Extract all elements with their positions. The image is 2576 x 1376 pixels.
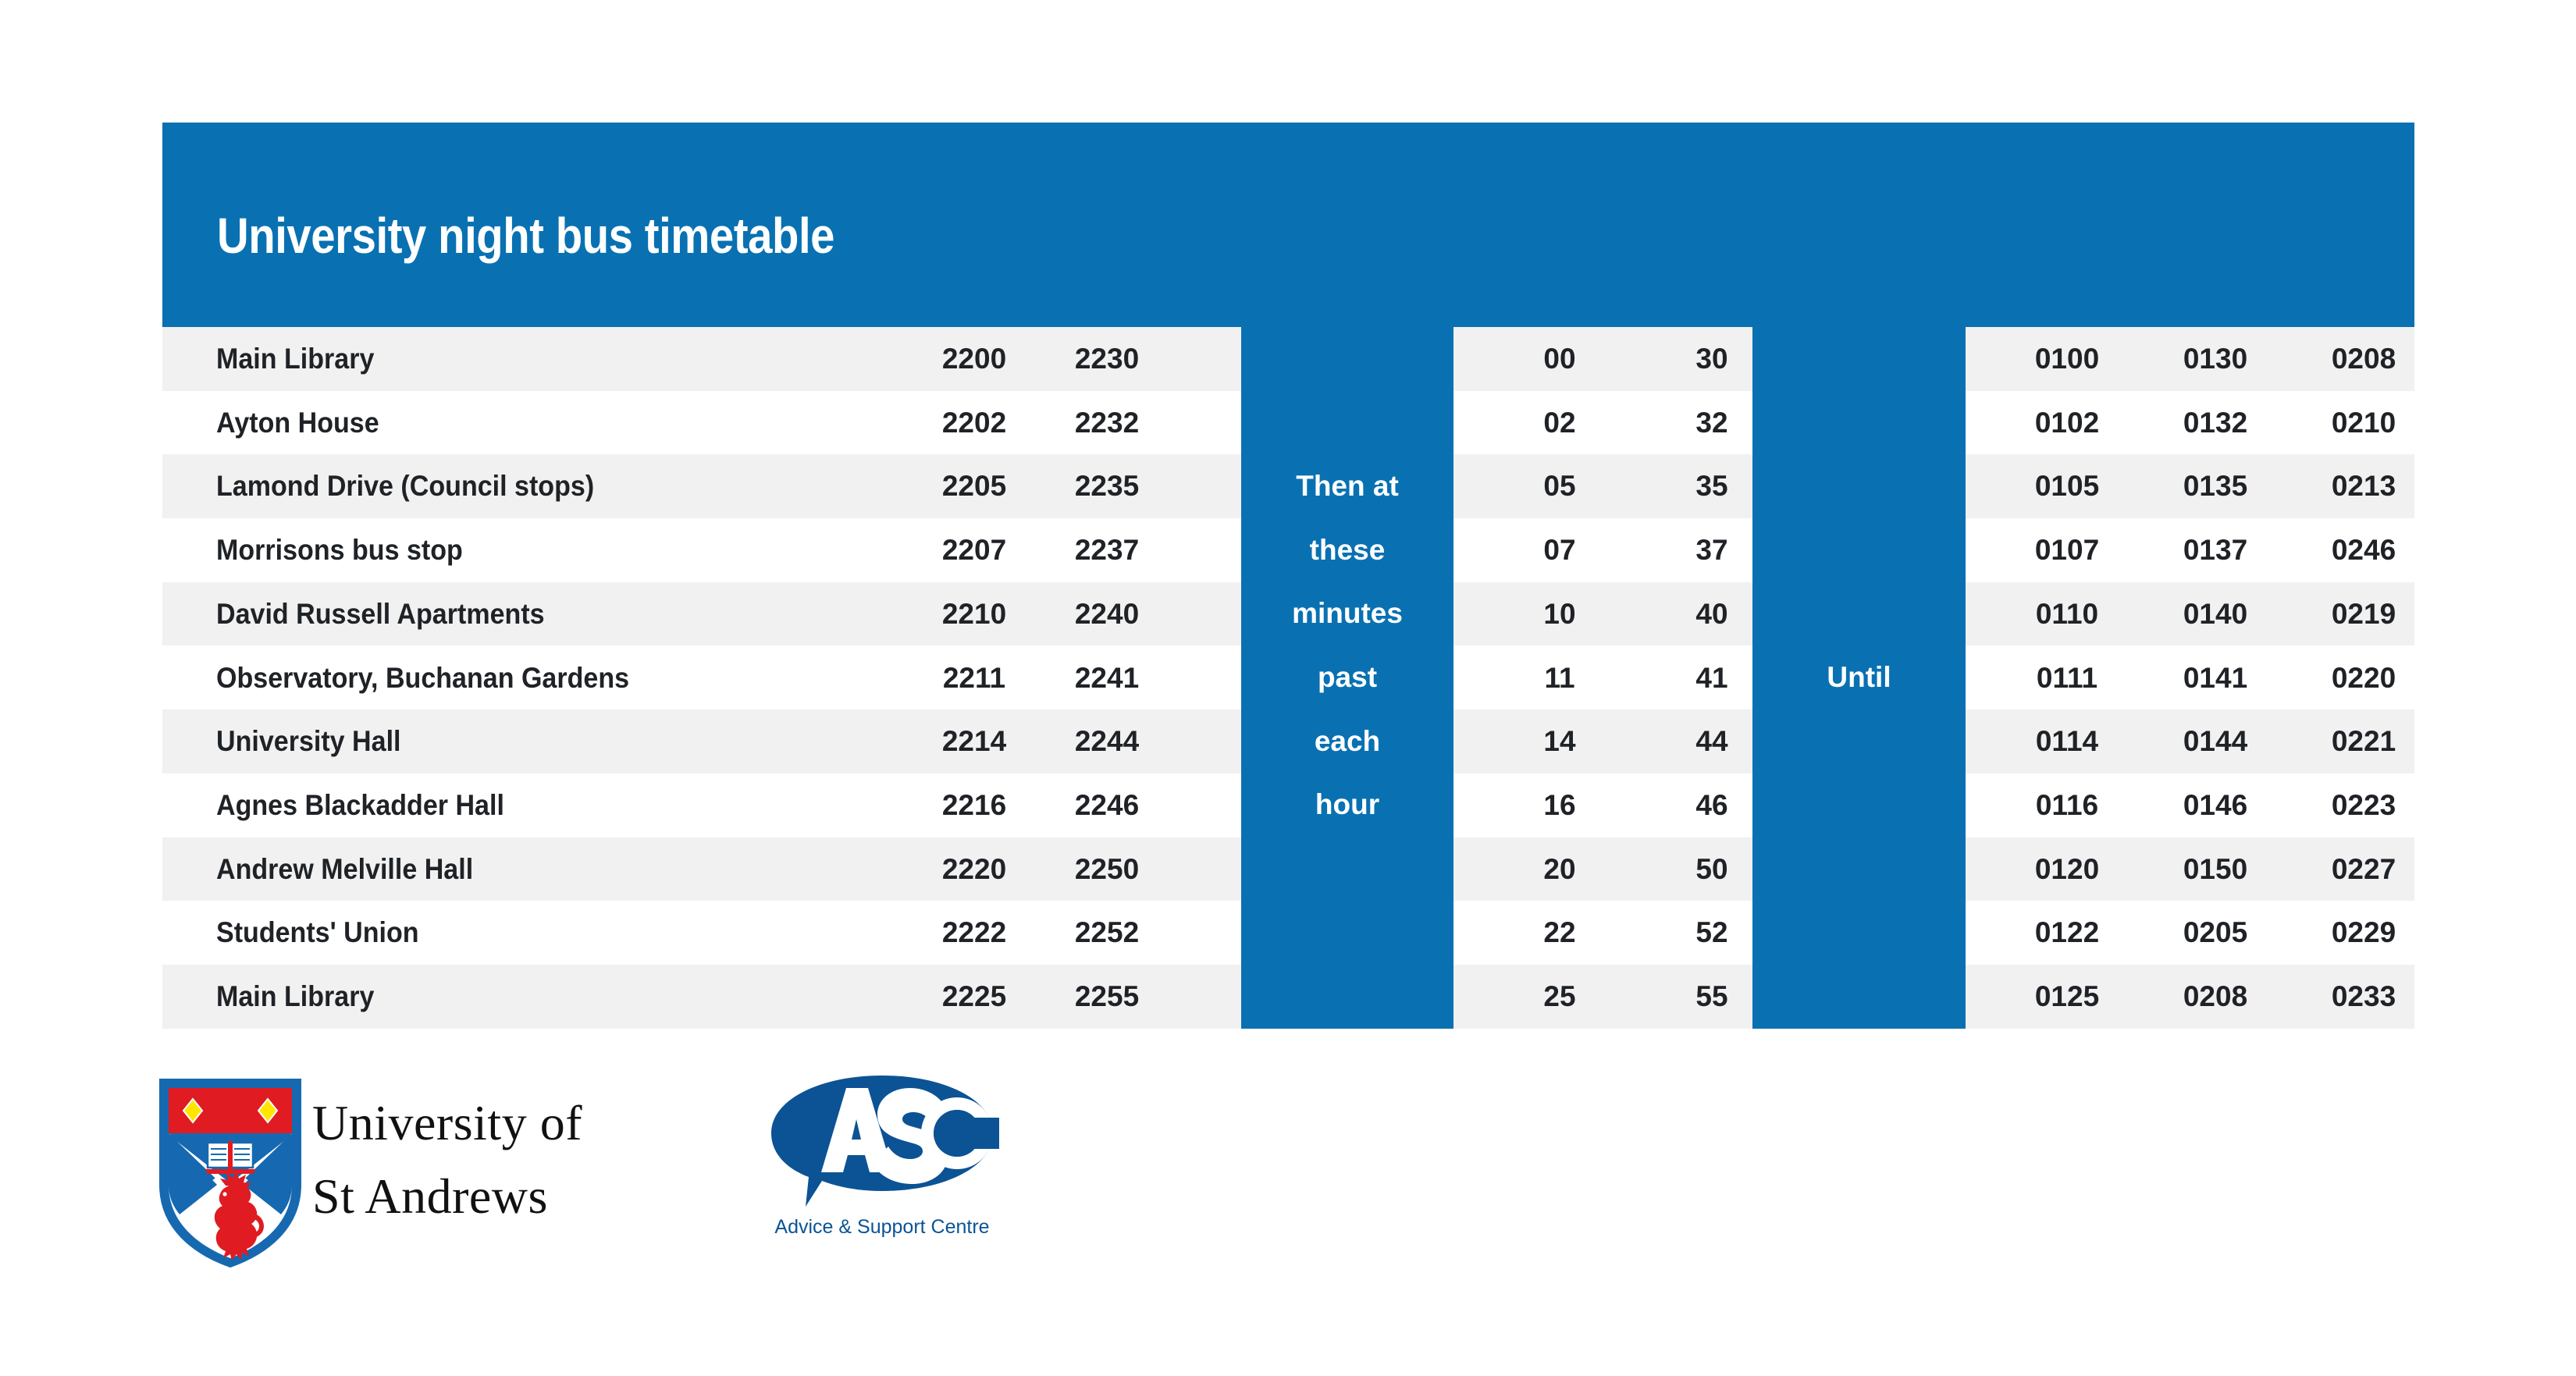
then-line-6: hour bbox=[1241, 773, 1453, 837]
late-time-cell: 0213 bbox=[2297, 454, 2430, 518]
late-time-cell: 0102 bbox=[2001, 391, 2133, 455]
timetable: Main Library220022300030010001300208Ayto… bbox=[162, 327, 2414, 1029]
departure-time-cell: 2222 bbox=[908, 901, 1041, 965]
late-time-cell: 0233 bbox=[2297, 965, 2430, 1029]
departure-time-cell: 2250 bbox=[1041, 837, 1173, 901]
until-panel: Until bbox=[1752, 327, 1966, 1029]
late-time-cell: 0132 bbox=[2149, 391, 2282, 455]
late-time-cell: 0135 bbox=[2149, 454, 2282, 518]
departure-time-cell: 2232 bbox=[1041, 391, 1173, 455]
minutes-past-cell: 55 bbox=[1665, 965, 1759, 1029]
late-time-cell: 0210 bbox=[2297, 391, 2430, 455]
departure-time-cell: 2211 bbox=[908, 646, 1041, 710]
minutes-past-cell: 16 bbox=[1513, 773, 1606, 837]
stop-name-cell: Lamond Drive (Council stops) bbox=[216, 454, 863, 518]
departure-time-cell: 2240 bbox=[1041, 582, 1173, 646]
minutes-past-cell: 41 bbox=[1665, 646, 1759, 710]
late-time-cell: 0130 bbox=[2149, 327, 2282, 391]
minutes-past-cell: 50 bbox=[1665, 837, 1759, 901]
late-time-cell: 0146 bbox=[2149, 773, 2282, 837]
late-time-cell: 0208 bbox=[2149, 965, 2282, 1029]
departure-time-cell: 2216 bbox=[908, 773, 1041, 837]
stop-name-cell: Students' Union bbox=[216, 901, 863, 965]
late-time-cell: 0116 bbox=[2001, 773, 2133, 837]
asc-caption: Advice & Support Centre bbox=[765, 1216, 999, 1239]
until-label: Until bbox=[1752, 645, 1966, 709]
minutes-past-cell: 11 bbox=[1513, 646, 1606, 710]
minutes-past-cell: 10 bbox=[1513, 582, 1606, 646]
late-time-cell: 0137 bbox=[2149, 518, 2282, 582]
minutes-past-cell: 00 bbox=[1513, 327, 1606, 391]
then-line-3: minutes bbox=[1241, 581, 1453, 645]
minutes-past-cell: 40 bbox=[1665, 582, 1759, 646]
minutes-past-cell: 37 bbox=[1665, 518, 1759, 582]
then-line-2: these bbox=[1241, 518, 1453, 582]
stop-name-cell: University Hall bbox=[216, 709, 863, 773]
departure-time-cell: 2235 bbox=[1041, 454, 1173, 518]
late-time-cell: 0227 bbox=[2297, 837, 2430, 901]
departure-time-cell: 2237 bbox=[1041, 518, 1173, 582]
late-time-cell: 0125 bbox=[2001, 965, 2133, 1029]
page-title: University night bus timetable bbox=[217, 207, 834, 265]
departure-time-cell: 2255 bbox=[1041, 965, 1173, 1029]
minutes-past-cell: 05 bbox=[1513, 454, 1606, 518]
late-time-cell: 0208 bbox=[2297, 327, 2430, 391]
then-at-minutes-panel: Then at these minutes past each hour bbox=[1241, 327, 1453, 1029]
late-time-cell: 0120 bbox=[2001, 837, 2133, 901]
late-time-cell: 0219 bbox=[2297, 582, 2430, 646]
departure-time-cell: 2225 bbox=[908, 965, 1041, 1029]
late-time-cell: 0141 bbox=[2149, 646, 2282, 710]
wordmark-line-2: St Andrews bbox=[312, 1160, 671, 1233]
then-line-5: each bbox=[1241, 709, 1453, 773]
st-andrews-wordmark: University of St Andrews bbox=[312, 1086, 671, 1258]
then-line-4: past bbox=[1241, 645, 1453, 709]
departure-time-cell: 2210 bbox=[908, 582, 1041, 646]
late-time-cell: 0246 bbox=[2297, 518, 2430, 582]
departure-time-cell: 2252 bbox=[1041, 901, 1173, 965]
minutes-past-cell: 02 bbox=[1513, 391, 1606, 455]
minutes-past-cell: 44 bbox=[1665, 709, 1759, 773]
departure-time-cell: 2200 bbox=[908, 327, 1041, 391]
then-at-minutes-lines: Then at these minutes past each hour bbox=[1241, 454, 1453, 837]
university-of-st-andrews-logo: University of St Andrews bbox=[156, 1076, 671, 1271]
stop-name-cell: Observatory, Buchanan Gardens bbox=[216, 646, 863, 710]
stop-name-cell: Agnes Blackadder Hall bbox=[216, 773, 863, 837]
late-time-cell: 0140 bbox=[2149, 582, 2282, 646]
late-time-cell: 0223 bbox=[2297, 773, 2430, 837]
departure-time-cell: 2244 bbox=[1041, 709, 1173, 773]
late-time-cell: 0144 bbox=[2149, 709, 2282, 773]
late-time-cell: 0220 bbox=[2297, 646, 2430, 710]
departure-time-cell: 2230 bbox=[1041, 327, 1173, 391]
minutes-past-cell: 35 bbox=[1665, 454, 1759, 518]
departure-time-cell: 2241 bbox=[1041, 646, 1173, 710]
late-time-cell: 0205 bbox=[2149, 901, 2282, 965]
late-time-cell: 0221 bbox=[2297, 709, 2430, 773]
late-time-cell: 0100 bbox=[2001, 327, 2133, 391]
departure-time-cell: 2246 bbox=[1041, 773, 1173, 837]
minutes-past-cell: 32 bbox=[1665, 391, 1759, 455]
minutes-past-cell: 25 bbox=[1513, 965, 1606, 1029]
until-lines: Until bbox=[1752, 645, 1966, 709]
late-time-cell: 0111 bbox=[2001, 646, 2133, 710]
stop-name-cell: Main Library bbox=[216, 327, 863, 391]
late-time-cell: 0150 bbox=[2149, 837, 2282, 901]
then-line-1: Then at bbox=[1241, 454, 1453, 518]
asc-speech-bubble-icon bbox=[765, 1069, 999, 1210]
header-bar: University night bus timetable bbox=[162, 123, 2414, 327]
late-time-cell: 0114 bbox=[2001, 709, 2133, 773]
poster-canvas: University night bus timetable Main Libr… bbox=[0, 0, 2576, 1376]
st-andrews-crest-icon bbox=[156, 1076, 304, 1271]
wordmark-line-1: University of bbox=[312, 1086, 671, 1160]
late-time-cell: 0110 bbox=[2001, 582, 2133, 646]
late-time-cell: 0122 bbox=[2001, 901, 2133, 965]
late-time-cell: 0107 bbox=[2001, 518, 2133, 582]
minutes-past-cell: 20 bbox=[1513, 837, 1606, 901]
stop-name-cell: David Russell Apartments bbox=[216, 582, 863, 646]
stop-name-cell: Andrew Melville Hall bbox=[216, 837, 863, 901]
departure-time-cell: 2207 bbox=[908, 518, 1041, 582]
asc-logo: Advice & Support Centre bbox=[765, 1069, 999, 1264]
departure-time-cell: 2220 bbox=[908, 837, 1041, 901]
departure-time-cell: 2214 bbox=[908, 709, 1041, 773]
stop-name-cell: Morrisons bus stop bbox=[216, 518, 863, 582]
minutes-past-cell: 46 bbox=[1665, 773, 1759, 837]
minutes-past-cell: 22 bbox=[1513, 901, 1606, 965]
minutes-past-cell: 30 bbox=[1665, 327, 1759, 391]
late-time-cell: 0105 bbox=[2001, 454, 2133, 518]
late-time-cell: 0229 bbox=[2297, 901, 2430, 965]
departure-time-cell: 2202 bbox=[908, 391, 1041, 455]
stop-name-cell: Main Library bbox=[216, 965, 863, 1029]
minutes-past-cell: 14 bbox=[1513, 709, 1606, 773]
stop-name-cell: Ayton House bbox=[216, 391, 863, 455]
minutes-past-cell: 52 bbox=[1665, 901, 1759, 965]
minutes-past-cell: 07 bbox=[1513, 518, 1606, 582]
departure-time-cell: 2205 bbox=[908, 454, 1041, 518]
